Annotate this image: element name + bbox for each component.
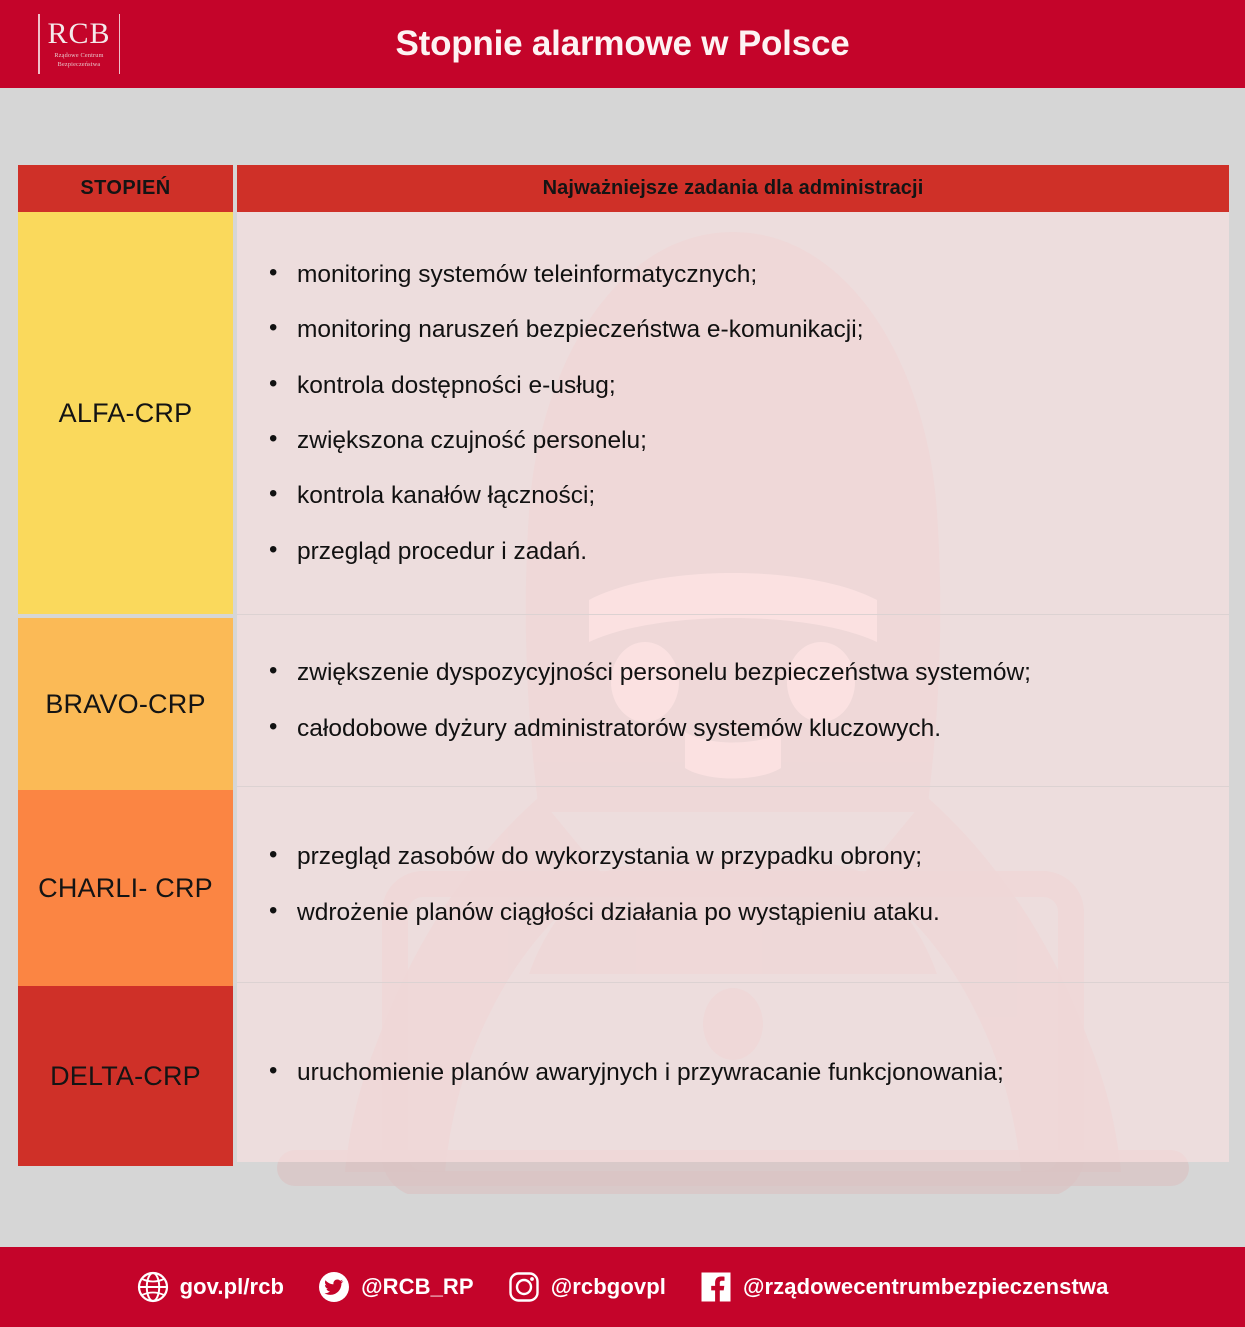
tasks-cell-alfa: monitoring systemów teleinformatycznych;… bbox=[237, 212, 1229, 614]
content-sheet: STOPIEŃ Najważniejsze zadania dla admini… bbox=[0, 88, 1245, 1247]
page-title: Stopnie alarmowe w Polsce bbox=[0, 24, 1245, 64]
footer-label-facebook: @rządowecentrumbezpieczenstwa bbox=[743, 1274, 1108, 1300]
column-header-level: STOPIEŃ bbox=[18, 165, 233, 212]
task-list: zwiększenie dyspozycyjności personelu be… bbox=[237, 658, 1215, 743]
list-item: zwiększenie dyspozycyjności personelu be… bbox=[267, 658, 1215, 687]
level-badge-delta: DELTA-CRP bbox=[18, 986, 233, 1166]
task-list: monitoring systemów teleinformatycznych;… bbox=[237, 260, 1215, 566]
list-item: kontrola dostępności e-usług; bbox=[267, 371, 1215, 400]
list-item: monitoring naruszeń bezpieczeństwa e-kom… bbox=[267, 315, 1215, 344]
list-item: wdrożenie planów ciągłości działania po … bbox=[267, 898, 1215, 927]
table-body: ALFA-CRP monitoring systemów teleinforma… bbox=[18, 212, 1229, 1162]
table-header-row: STOPIEŃ Najważniejsze zadania dla admini… bbox=[18, 165, 1229, 212]
footer-link-website[interactable]: gov.pl/rcb bbox=[137, 1271, 285, 1303]
tasks-cell-charli: przegląd zasobów do wykorzystania w przy… bbox=[237, 786, 1229, 982]
list-item: przegląd zasobów do wykorzystania w przy… bbox=[267, 842, 1215, 871]
level-badge-alfa: ALFA-CRP bbox=[18, 212, 233, 614]
footer-link-twitter[interactable]: @RCB_RP bbox=[318, 1271, 474, 1303]
list-item: kontrola kanałów łączności; bbox=[267, 481, 1215, 510]
tasks-cell-delta: uruchomienie planów awaryjnych i przywra… bbox=[237, 982, 1229, 1162]
footer-label-website: gov.pl/rcb bbox=[180, 1274, 285, 1300]
task-list: uruchomienie planów awaryjnych i przywra… bbox=[237, 1058, 1215, 1087]
globe-icon bbox=[137, 1271, 169, 1303]
list-item: monitoring systemów teleinformatycznych; bbox=[267, 260, 1215, 289]
page-header: RCB Rządowe Centrum Bezpieczeństwa Stopn… bbox=[0, 0, 1245, 88]
footer-label-twitter: @RCB_RP bbox=[361, 1274, 474, 1300]
facebook-icon bbox=[700, 1271, 732, 1303]
page-footer: gov.pl/rcb @RCB_RP @rcbgovpl @rz bbox=[0, 1247, 1245, 1327]
table-row: BRAVO-CRP zwiększenie dyspozycyjności pe… bbox=[18, 614, 1229, 786]
list-item: uruchomienie planów awaryjnych i przywra… bbox=[267, 1058, 1215, 1087]
instagram-icon bbox=[508, 1271, 540, 1303]
footer-link-instagram[interactable]: @rcbgovpl bbox=[508, 1271, 666, 1303]
tasks-cell-bravo: zwiększenie dyspozycyjności personelu be… bbox=[237, 614, 1229, 786]
list-item: całodobowe dyżury administratorów system… bbox=[267, 714, 1215, 743]
twitter-icon bbox=[318, 1271, 350, 1303]
footer-label-instagram: @rcbgovpl bbox=[551, 1274, 666, 1300]
list-item: zwiększona czujność personelu; bbox=[267, 426, 1215, 455]
table-row: CHARLI- CRP przegląd zasobów do wykorzys… bbox=[18, 786, 1229, 982]
list-item: przegląd procedur i zadań. bbox=[267, 537, 1215, 566]
level-badge-charli: CHARLI- CRP bbox=[18, 790, 233, 986]
table-row: ALFA-CRP monitoring systemów teleinforma… bbox=[18, 212, 1229, 614]
alert-levels-table: STOPIEŃ Najważniejsze zadania dla admini… bbox=[18, 165, 1229, 1162]
footer-link-facebook[interactable]: @rządowecentrumbezpieczenstwa bbox=[700, 1271, 1108, 1303]
level-badge-bravo: BRAVO-CRP bbox=[18, 618, 233, 790]
task-list: przegląd zasobów do wykorzystania w przy… bbox=[237, 842, 1215, 927]
column-header-tasks: Najważniejsze zadania dla administracji bbox=[237, 165, 1229, 212]
table-row: DELTA-CRP uruchomienie planów awaryjnych… bbox=[18, 982, 1229, 1162]
